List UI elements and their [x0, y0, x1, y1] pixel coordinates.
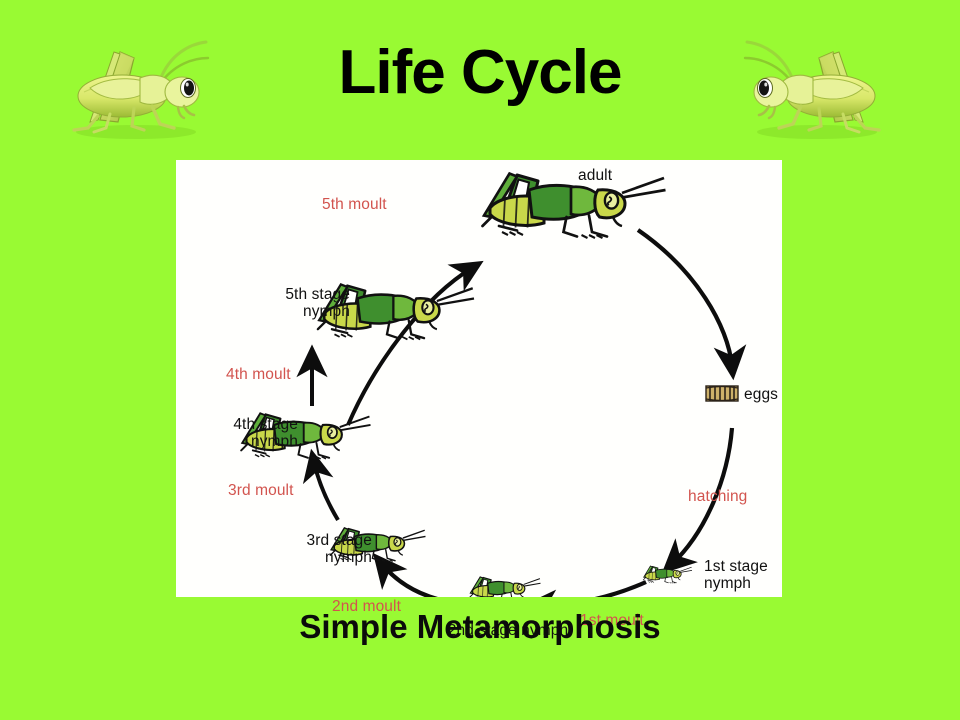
- grasshopper-adult: [483, 174, 666, 239]
- slide-caption: Simple Metamorphosis: [0, 608, 960, 646]
- label-nymph5: 5th stage nymph: [222, 286, 350, 321]
- arrow-adult-to-eggs: [638, 230, 732, 366]
- grasshopper-nymph2: [470, 577, 541, 597]
- life-cycle-diagram-panel: adult eggs 1st stage nymph 2nd stage nym…: [176, 160, 782, 597]
- label-moult5: 5th moult: [322, 196, 387, 213]
- arrow-moult5: [348, 268, 472, 425]
- label-nymph3: 3rd stage nymph: [240, 532, 372, 567]
- label-moult4: 4th moult: [226, 366, 291, 383]
- arrow-moult3: [314, 462, 338, 520]
- label-hatching: hatching: [688, 488, 747, 505]
- arrow-moult1: [536, 582, 646, 597]
- label-moult3: 3rd moult: [228, 482, 294, 499]
- slide-canvas: Life Cycle: [0, 0, 960, 720]
- label-nymph4: 4th stage nymph: [168, 416, 298, 451]
- eggs-cluster: [706, 386, 738, 401]
- label-eggs: eggs: [744, 386, 778, 403]
- grasshopper-nymph1: [643, 566, 692, 583]
- label-adult: adult: [578, 167, 612, 184]
- arrow-moult2: [382, 564, 464, 597]
- label-nymph1: 1st stage nymph: [704, 558, 768, 593]
- grasshopper-right-icon: [730, 28, 905, 148]
